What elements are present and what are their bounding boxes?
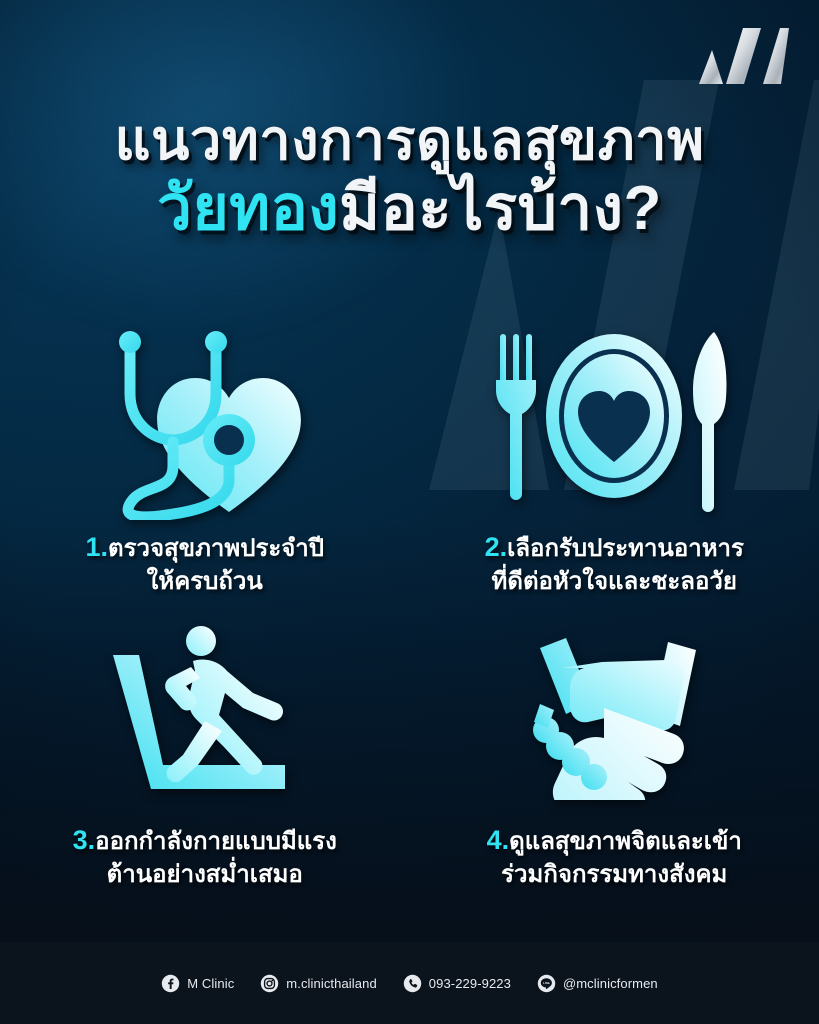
tip-caption-1: 1.ตรวจสุขภาพประจำปี ให้ครบถ้วน: [85, 530, 324, 597]
tip-number-1: 1.: [85, 532, 108, 562]
facebook-icon: [161, 974, 180, 993]
footer-contact-bar: M Clinic m.clinicthailand 093-229-92: [0, 942, 819, 1024]
tip-text-2-line2: ที่ดีต่อหัวใจและชะลอวัย: [485, 566, 744, 598]
svg-text:LINE: LINE: [543, 980, 550, 984]
handshake-icon: [500, 615, 728, 815]
tip-text-4-line2: ร่วมกิจกรรมทางสังคม: [487, 859, 742, 891]
tips-grid: 1.ตรวจสุขภาพประจำปี ให้ครบถ้วน: [0, 322, 819, 891]
footer-label-facebook: M Clinic: [187, 976, 234, 991]
tip-text-1-line1: ตรวจสุขภาพประจำปี: [108, 535, 324, 562]
phone-icon: [403, 974, 422, 993]
tip-card-4: 4.ดูแลสุขภาพจิตและเข้า ร่วมกิจกรรมทางสัง…: [410, 615, 819, 890]
m-clinic-logo: [693, 22, 789, 84]
tip-text-3-line1: ออกกำลังกายแบบมีแรง: [95, 828, 337, 855]
footer-contact-instagram[interactable]: m.clinicthailand: [260, 974, 376, 993]
footer-contact-line[interactable]: LINE @mclinicformen: [537, 974, 658, 993]
headline-line-2-highlight: วัยทอง: [157, 174, 339, 243]
footer-label-line: @mclinicformen: [563, 976, 658, 991]
headline-line-2-rest: มีอะไรบ้าง?: [339, 174, 662, 243]
footer-contact-phone[interactable]: 093-229-9223: [403, 974, 511, 993]
line-icon: LINE: [537, 974, 556, 993]
tip-text-4-line1: ดูแลสุขภาพจิตและเข้า: [509, 828, 742, 855]
tip-number-4: 4.: [487, 825, 510, 855]
treadmill-runner-icon: [105, 615, 305, 815]
plate-heart-cutlery-icon: [492, 322, 737, 522]
tip-card-2: 2.เลือกรับประทานอาหาร ที่ดีต่อหัวใจและชะ…: [410, 322, 819, 597]
tip-card-1: 1.ตรวจสุขภาพประจำปี ให้ครบถ้วน: [0, 322, 410, 597]
tip-text-3-line2: ต้านอย่างสม่ำเสมอ: [73, 859, 337, 891]
stethoscope-heart-icon: [97, 322, 312, 522]
tip-caption-4: 4.ดูแลสุขภาพจิตและเข้า ร่วมกิจกรรมทางสัง…: [487, 823, 742, 890]
tip-caption-3: 3.ออกกำลังกายแบบมีแรง ต้านอย่างสม่ำเสมอ: [73, 823, 337, 890]
tip-number-2: 2.: [485, 532, 508, 562]
tip-caption-2: 2.เลือกรับประทานอาหาร ที่ดีต่อหัวใจและชะ…: [485, 530, 744, 597]
instagram-icon: [260, 974, 279, 993]
tip-text-2-line1: เลือกรับประทานอาหาร: [507, 535, 744, 562]
headline-line-2: วัยทองมีอะไรบ้าง?: [0, 178, 819, 240]
footer-label-instagram: m.clinicthailand: [286, 976, 376, 991]
poster-canvas: แนวทางการดูแลสุขภาพ วัยทองมีอะไรบ้าง?: [0, 0, 819, 1024]
tip-number-3: 3.: [73, 825, 96, 855]
footer-label-phone: 093-229-9223: [429, 976, 511, 991]
headline-line-1: แนวทางการดูแลสุขภาพ: [0, 112, 819, 168]
tip-text-1-line2: ให้ครบถ้วน: [85, 566, 324, 598]
tip-card-3: 3.ออกกำลังกายแบบมีแรง ต้านอย่างสม่ำเสมอ: [0, 615, 410, 890]
footer-contact-facebook[interactable]: M Clinic: [161, 974, 234, 993]
headline: แนวทางการดูแลสุขภาพ วัยทองมีอะไรบ้าง?: [0, 112, 819, 240]
